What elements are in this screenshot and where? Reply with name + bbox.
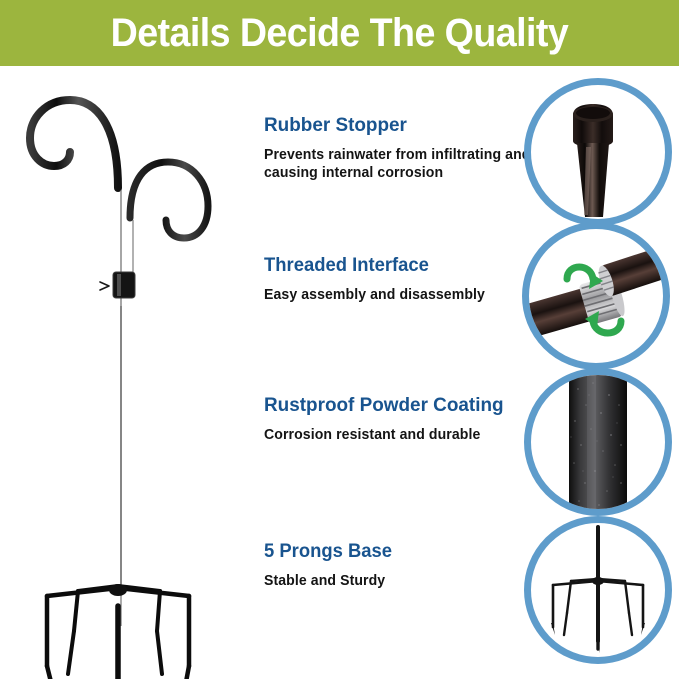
feature-title: Rubber Stopper (264, 114, 545, 137)
feature-title: 5 Prongs Base (264, 540, 545, 563)
feature-description: Easy assembly and disassembly (264, 286, 545, 304)
product-image (0, 66, 252, 679)
feature-title: Threaded Interface (264, 254, 545, 277)
infographic-page: Details Decide The Quality (0, 0, 679, 679)
threaded-interface-icon (529, 229, 663, 363)
detail-circle-prongs-base (524, 516, 672, 664)
detail-circle-rubber-stopper (524, 78, 672, 226)
header-banner: Details Decide The Quality (0, 0, 679, 66)
powder-coating-icon (531, 375, 665, 509)
prongs-base-icon (531, 523, 665, 657)
feature-title: Rustproof Powder Coating (264, 394, 545, 417)
rubber-stopper-icon (531, 85, 665, 219)
detail-photo-column (520, 66, 679, 679)
detail-circle-threaded-interface (522, 222, 670, 370)
feature-description: Corrosion resistant and durable (264, 426, 545, 444)
feature-description: Stable and Sturdy (264, 572, 545, 590)
feature-list: Rubber Stopper Prevents rainwater from i… (252, 66, 542, 679)
shepherd-hook-illustration (0, 66, 252, 679)
page-title: Details Decide The Quality (111, 13, 569, 53)
feature-rubber-stopper: Rubber Stopper Prevents rainwater from i… (264, 114, 554, 182)
detail-circle-powder-coating (524, 368, 672, 516)
feature-description: Prevents rainwater from infiltrating and… (264, 146, 545, 182)
feature-threaded-interface: Threaded Interface Easy assembly and dis… (264, 254, 554, 304)
feature-5-prongs-base: 5 Prongs Base Stable and Sturdy (264, 540, 554, 590)
feature-rustproof-powder-coating: Rustproof Powder Coating Corrosion resis… (264, 394, 554, 444)
